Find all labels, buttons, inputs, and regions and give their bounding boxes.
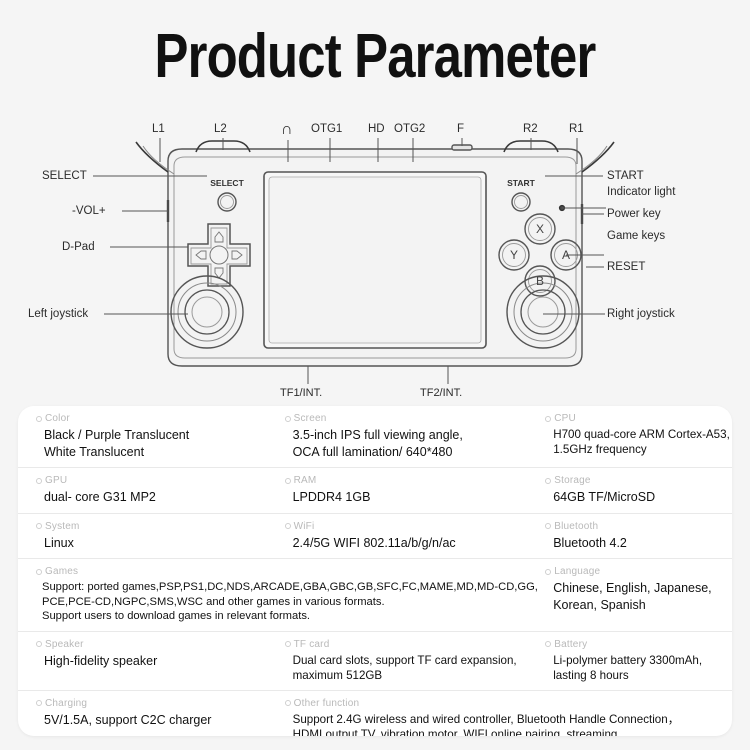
- spec-key: Color: [36, 412, 279, 425]
- spec-key-label: Speaker: [45, 638, 84, 651]
- bullet-icon: [285, 641, 291, 647]
- spec-key: TF card: [285, 638, 540, 651]
- table-row: Games Support: ported games,PSP,PS1,DC,N…: [18, 559, 732, 632]
- spec-value: Linux: [36, 533, 279, 552]
- spec-key-label: Storage: [554, 474, 590, 487]
- bullet-icon: [285, 478, 291, 484]
- spec-key: Screen: [285, 412, 540, 425]
- table-row: Color Black / Purple Translucent White T…: [18, 406, 732, 468]
- spec-cell-color: Color Black / Purple Translucent White T…: [18, 406, 279, 467]
- label-otg2: OTG2: [394, 122, 425, 136]
- spec-key: RAM: [285, 474, 540, 487]
- button-b-label: B: [536, 274, 544, 288]
- table-row: Charging 5V/1.5A, support C2C charger Ot…: [18, 691, 732, 736]
- spec-value: H700 quad-core ARM Cortex-A53, 1.5GHz fr…: [545, 425, 732, 457]
- headphone-jack-icon: ∩: [281, 120, 293, 140]
- page-title: Product Parameter: [68, 24, 683, 89]
- button-y-label: Y: [510, 248, 518, 262]
- spec-key: Battery: [545, 638, 732, 651]
- label-indicator-light: Indicator light: [607, 185, 675, 199]
- label-game-keys: Game keys: [607, 229, 665, 243]
- label-select: SELECT: [42, 169, 87, 183]
- table-row: GPU dual- core G31 MP2 RAM LPDDR4 1GB St…: [18, 468, 732, 514]
- spec-cell-language: Language Chinese, English, Japanese, Kor…: [539, 559, 732, 631]
- label-right-joystick: Right joystick: [607, 307, 675, 321]
- spec-value: Black / Purple Translucent White Translu…: [36, 425, 279, 460]
- spec-value: Dual card slots, support TF card expansi…: [285, 651, 540, 683]
- bullet-icon: [285, 700, 291, 706]
- spec-cell-tf-card: TF card Dual card slots, support TF card…: [279, 632, 540, 690]
- spec-cell-cpu: CPU H700 quad-core ARM Cortex-A53, 1.5GH…: [539, 406, 732, 467]
- spec-key-label: CPU: [554, 412, 576, 425]
- spec-key: Storage: [545, 474, 732, 487]
- label-start: START: [607, 169, 644, 183]
- spec-key-label: Battery: [554, 638, 587, 651]
- spec-key-label: RAM: [294, 474, 317, 487]
- bullet-icon: [545, 569, 551, 575]
- spec-key: System: [36, 520, 279, 533]
- spec-key: Bluetooth: [545, 520, 732, 533]
- spec-key: Other function: [285, 697, 732, 710]
- spec-cell-speaker: Speaker High-fidelity speaker: [18, 632, 279, 690]
- spec-cell-wifi: WiFi 2.4/5G WIFI 802.11a/b/g/n/ac: [279, 514, 540, 559]
- spec-table-card: Color Black / Purple Translucent White T…: [18, 406, 732, 736]
- spec-key: Games: [36, 565, 539, 578]
- label-l1: L1: [152, 122, 165, 136]
- bullet-icon: [545, 641, 551, 647]
- table-row: System Linux WiFi 2.4/5G WIFI 802.11a/b/…: [18, 514, 732, 560]
- label-tf2: TF2/INT.: [420, 387, 462, 401]
- label-left-joystick: Left joystick: [28, 307, 88, 321]
- spec-value: 5V/1.5A, support C2C charger: [36, 710, 279, 729]
- spec-value: 64GB TF/MicroSD: [545, 487, 732, 506]
- label-l2: L2: [214, 122, 227, 136]
- spec-key: GPU: [36, 474, 279, 487]
- bullet-icon: [36, 416, 42, 422]
- spec-cell-ram: RAM LPDDR4 1GB: [279, 468, 540, 513]
- bullet-icon: [285, 523, 291, 529]
- label-r2: R2: [523, 122, 538, 136]
- spec-value: High-fidelity speaker: [36, 651, 279, 670]
- spec-key-label: TF card: [294, 638, 330, 651]
- spec-value: dual- core G31 MP2: [36, 487, 279, 506]
- spec-value: LPDDR4 1GB: [285, 487, 540, 506]
- bullet-icon: [36, 478, 42, 484]
- spec-key: Language: [545, 565, 732, 578]
- label-dpad: D-Pad: [62, 240, 95, 254]
- spec-cell-other-function: Other function Support 2.4G wireless and…: [279, 691, 732, 736]
- bullet-icon: [36, 569, 42, 575]
- spec-key: CPU: [545, 412, 732, 425]
- spec-value: Support 2.4G wireless and wired controll…: [285, 710, 732, 736]
- spec-key-label: WiFi: [294, 520, 315, 533]
- spec-cell-games: Games Support: ported games,PSP,PS1,DC,N…: [18, 559, 539, 631]
- spec-key-label: Bluetooth: [554, 520, 598, 533]
- spec-value: Support: ported games,PSP,PS1,DC,NDS,ARC…: [36, 578, 539, 624]
- bullet-icon: [36, 641, 42, 647]
- bullet-icon: [545, 478, 551, 484]
- spec-key-label: GPU: [45, 474, 67, 487]
- spec-cell-screen: Screen 3.5-inch IPS full viewing angle, …: [279, 406, 540, 467]
- bullet-icon: [36, 700, 42, 706]
- spec-key: Speaker: [36, 638, 279, 651]
- bullet-icon: [545, 416, 551, 422]
- spec-key-label: Screen: [294, 412, 327, 425]
- label-volume: -VOL+: [72, 204, 106, 218]
- spec-value: Li-polymer battery 3300mAh, lasting 8 ho…: [545, 651, 732, 683]
- device-select-marking: SELECT: [210, 178, 244, 188]
- spec-key: WiFi: [285, 520, 540, 533]
- spec-cell-gpu: GPU dual- core G31 MP2: [18, 468, 279, 513]
- spec-value: 2.4/5G WIFI 802.11a/b/g/n/ac: [285, 533, 540, 552]
- label-r1: R1: [569, 122, 584, 136]
- bullet-icon: [545, 523, 551, 529]
- spec-key-label: Language: [554, 565, 600, 578]
- label-reset: RESET: [607, 260, 645, 274]
- label-otg1: OTG1: [311, 122, 342, 136]
- label-hd: HD: [368, 122, 385, 136]
- label-tf1: TF1/INT.: [280, 387, 322, 401]
- spec-cell-charging: Charging 5V/1.5A, support C2C charger: [18, 691, 279, 736]
- spec-key-label: Color: [45, 412, 70, 425]
- spec-cell-bluetooth: Bluetooth Bluetooth 4.2: [539, 514, 732, 559]
- spec-cell-system: System Linux: [18, 514, 279, 559]
- spec-key-label: Other function: [294, 697, 360, 710]
- button-x-label: X: [536, 222, 544, 236]
- label-f: F: [457, 122, 464, 136]
- device-diagram: SELECT START X Y A B: [0, 112, 750, 412]
- product-parameter-page: Product Parameter: [0, 0, 750, 750]
- spec-cell-storage: Storage 64GB TF/MicroSD: [539, 468, 732, 513]
- spec-value: Chinese, English, Japanese, Korean, Span…: [545, 578, 732, 613]
- bullet-icon: [36, 523, 42, 529]
- spec-key-label: System: [45, 520, 80, 533]
- spec-value: Bluetooth 4.2: [545, 533, 732, 552]
- table-row: Speaker High-fidelity speaker TF card Du…: [18, 632, 732, 691]
- device-start-marking: START: [507, 178, 536, 188]
- label-power-key: Power key: [607, 207, 661, 221]
- spec-key-label: Charging: [45, 697, 87, 710]
- spec-value: 3.5-inch IPS full viewing angle, OCA ful…: [285, 425, 540, 460]
- spec-cell-battery: Battery Li-polymer battery 3300mAh, last…: [539, 632, 732, 690]
- spec-key-label: Games: [45, 565, 78, 578]
- spec-key: Charging: [36, 697, 279, 710]
- bullet-icon: [285, 416, 291, 422]
